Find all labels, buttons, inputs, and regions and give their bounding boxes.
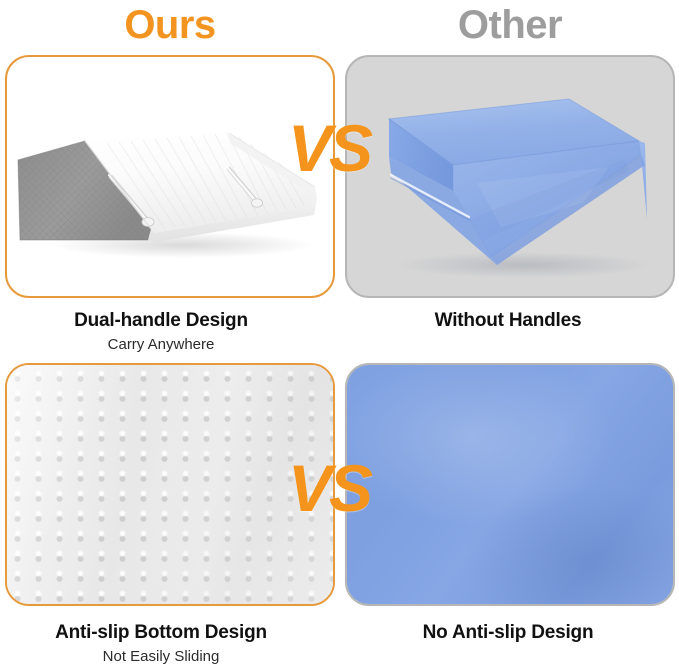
product-scene-white-wedge	[7, 57, 333, 296]
caption-ours-antislip: Anti-slip Bottom Design Not Easily Slidi…	[0, 621, 331, 667]
panel-other-without-handles	[345, 55, 675, 298]
white-wedge-pillow-image	[15, 103, 327, 263]
caption-subtitle: Not Easily Sliding	[0, 646, 331, 667]
column-header-other: Other	[345, 2, 675, 48]
panel-ours-dual-handle	[5, 55, 335, 298]
caption-title: Anti-slip Bottom Design	[0, 621, 331, 645]
caption-ours-dual-handle: Dual-handle Design Carry Anywhere	[0, 309, 331, 355]
antislip-dotted-texture	[7, 365, 333, 604]
caption-title: Dual-handle Design	[0, 309, 331, 333]
caption-other-no-antislip: No Anti-slip Design	[338, 621, 678, 645]
blue-wedge-pillow-illustration	[373, 79, 669, 284]
vs-badge-top: VS	[288, 115, 370, 181]
product-scene-blue-wedge	[347, 57, 673, 296]
caption-title: Without Handles	[338, 309, 678, 333]
plain-blue-fabric-surface	[347, 365, 673, 604]
vs-badge-bottom: VS	[288, 455, 370, 521]
panel-ours-antislip-bottom	[5, 363, 335, 606]
panel-other-no-antislip	[345, 363, 675, 606]
caption-subtitle: Carry Anywhere	[0, 334, 331, 355]
blue-wedge-pillow-image	[373, 79, 669, 284]
white-wedge-pillow-illustration	[15, 103, 327, 263]
column-header-ours: Ours	[5, 2, 335, 48]
product-comparison-infographic: Ours Other	[0, 0, 679, 672]
caption-title: No Anti-slip Design	[338, 621, 678, 645]
caption-other-without-handles: Without Handles	[338, 309, 678, 333]
